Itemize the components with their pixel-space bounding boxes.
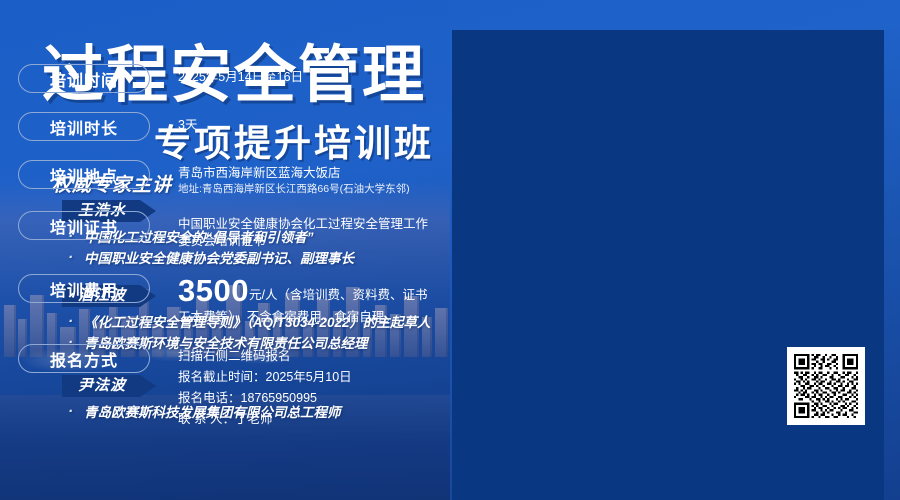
info-row-time: 培训时间 2025年5月14日至16日: [18, 64, 890, 93]
info-row-fee: 培训费用 3500元/人（含培训费、资料费、证书 工本费等），不含食宿费用，食宿…: [18, 274, 890, 327]
label-signup-method: 报名方式: [18, 344, 150, 373]
signup-line-1: 扫描右侧二维码报名: [178, 346, 352, 367]
qr-code-card[interactable]: [787, 347, 865, 425]
info-row-certificate: 培训证书 中国职业安全健康协会化工过程安全管理工作 委员会培训证书: [18, 211, 890, 250]
value-training-fee: 3500元/人（含培训费、资料费、证书 工本费等），不含食宿费用，食宿自理。: [178, 274, 427, 327]
fee-unit-text: 元/人（含培训费、资料费、证书: [249, 288, 427, 302]
label-training-location: 培训地点: [18, 160, 150, 189]
signup-phone: 报名电话：18765950995: [178, 388, 352, 409]
label-training-time: 培训时间: [18, 64, 150, 93]
qr-code-icon: [794, 354, 858, 418]
value-training-certificate: 中国职业安全健康协会化工过程安全管理工作 委员会培训证书: [178, 211, 428, 250]
training-poster: 过程安全管理 专项提升培训班 权威专家主讲 王浩水 中国化工过程安全的“倡导者和…: [0, 0, 900, 500]
value-training-duration: 3天: [178, 112, 197, 134]
signup-contact: 联 系 人：丁老师: [178, 409, 352, 430]
value-training-time: 2025年5月14日至16日: [178, 64, 303, 86]
fee-note: 工本费等），不含食宿费用，食宿自理。: [178, 308, 427, 327]
value-training-location: 青岛市西海岸新区蓝海大饭店 地址:青岛西海岸新区长江西路66号(石油大学东邻): [178, 160, 410, 197]
certificate-line-1: 中国职业安全健康协会化工过程安全管理工作: [178, 216, 428, 233]
label-training-certificate: 培训证书: [18, 211, 150, 240]
info-row-signup: 报名方式 扫描右侧二维码报名 报名截止时间：2025年5月10日 报名电话：18…: [18, 344, 890, 430]
info-row-duration: 培训时长 3天: [18, 112, 890, 141]
label-training-duration: 培训时长: [18, 112, 150, 141]
location-venue: 青岛市西海岸新区蓝海大饭店: [178, 165, 410, 182]
signup-deadline: 报名截止时间：2025年5月10日: [178, 367, 352, 388]
label-training-fee: 培训费用: [18, 274, 150, 303]
certificate-line-2: 委员会培训证书: [178, 233, 428, 250]
location-address: 地址:青岛西海岸新区长江西路66号(石油大学东邻): [178, 182, 410, 197]
info-row-location: 培训地点 青岛市西海岸新区蓝海大饭店 地址:青岛西海岸新区长江西路66号(石油大…: [18, 160, 890, 197]
fee-amount: 3500: [178, 273, 249, 308]
list-item: 中国职业安全健康协会党委副书记、副理事长: [62, 248, 354, 269]
value-signup-method: 扫描右侧二维码报名 报名截止时间：2025年5月10日 报名电话：1876595…: [178, 344, 352, 430]
